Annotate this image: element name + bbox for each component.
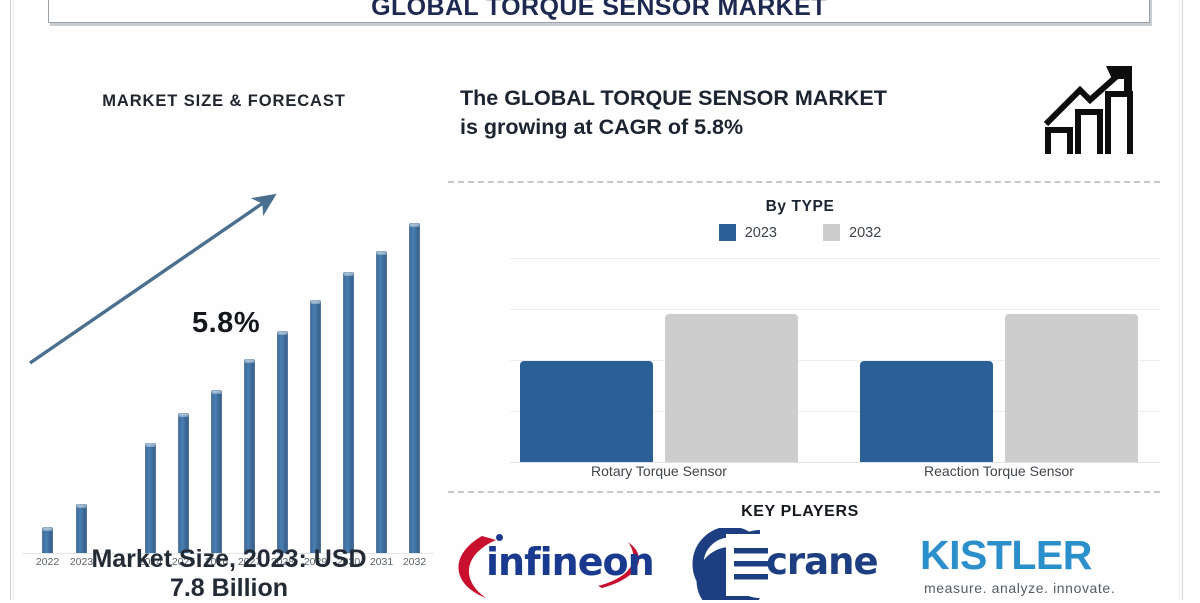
market-size-bar xyxy=(409,223,420,553)
by-type-bars xyxy=(500,258,1160,463)
headline: The GLOBAL TORQUE SENSOR MARKET is growi… xyxy=(460,84,1030,142)
market-size-bar xyxy=(376,251,387,553)
key-players-logos: infineon crane KISTLER measure. analyze.… xyxy=(440,528,1170,600)
headline-line-2: is growing at CAGR of 5.8% xyxy=(460,115,743,139)
legend-label: 2023 xyxy=(745,225,777,241)
market-size-line-2: 7.8 Billion xyxy=(170,574,288,602)
by-type-title: By TYPE xyxy=(440,198,1160,216)
by-type-bar xyxy=(665,314,798,462)
by-type-legend: 20232032 xyxy=(440,224,1160,241)
infineon-wordmark: infineon xyxy=(486,540,654,584)
divider-top xyxy=(448,181,1160,183)
infographic-page: GLOBAL TORQUE SENSOR MARKET MARKET SIZE … xyxy=(0,0,1200,600)
legend-item[interactable]: 2023 xyxy=(719,224,777,241)
headline-line-1: The GLOBAL TORQUE SENSOR MARKET xyxy=(460,86,887,110)
cagr-annotation: 5.8% xyxy=(192,307,260,340)
market-size-bar xyxy=(310,300,321,553)
market-size-bar xyxy=(277,331,288,553)
market-size-forecast-chart: 5.8% 20222023202420252026202720282029203… xyxy=(14,135,434,465)
right-panel: The GLOBAL TORQUE SENSOR MARKET is growi… xyxy=(440,0,1185,600)
legend-swatch xyxy=(719,224,736,241)
key-players-title: KEY PLAYERS xyxy=(440,503,1160,521)
by-type-chart xyxy=(500,258,1160,463)
logo-crane: crane xyxy=(690,528,890,600)
by-type-bar xyxy=(1005,314,1138,462)
market-size-value: Market Size, 2023: USD 7.8 Billion xyxy=(14,545,444,603)
growth-bar-chart-arrow-icon xyxy=(1040,62,1145,162)
by-type-bar xyxy=(520,361,653,462)
market-size-bar xyxy=(244,359,255,553)
legend-swatch xyxy=(823,224,840,241)
market-size-line-1: Market Size, 2023: USD xyxy=(91,545,366,573)
left-panel: MARKET SIZE & FORECAST 5.8% 202220232024… xyxy=(14,40,434,600)
by-type-bar xyxy=(860,361,993,462)
kistler-tagline: measure. analyze. innovate. xyxy=(924,580,1115,596)
logo-kistler: KISTLER measure. analyze. innovate. xyxy=(900,528,1150,600)
market-size-bar xyxy=(145,443,156,553)
legend-label: 2032 xyxy=(849,225,881,241)
logo-infineon: infineon xyxy=(452,528,667,600)
market-size-bar xyxy=(343,272,354,553)
market-size-forecast-heading: MARKET SIZE & FORECAST xyxy=(14,92,434,111)
by-type-category-label: Reaction Torque Sensor xyxy=(850,463,1148,479)
divider-bottom xyxy=(448,491,1160,493)
kistler-wordmark: KISTLER xyxy=(920,532,1092,579)
by-type-category-axis: Rotary Torque SensorReaction Torque Sens… xyxy=(500,463,1160,485)
crane-wordmark: crane xyxy=(766,540,878,583)
market-size-bars xyxy=(14,135,434,553)
by-type-category-label: Rotary Torque Sensor xyxy=(510,463,808,479)
market-size-bar xyxy=(178,413,189,553)
legend-item[interactable]: 2032 xyxy=(823,224,881,241)
market-size-bar xyxy=(211,390,222,553)
page-border-left xyxy=(10,0,11,600)
